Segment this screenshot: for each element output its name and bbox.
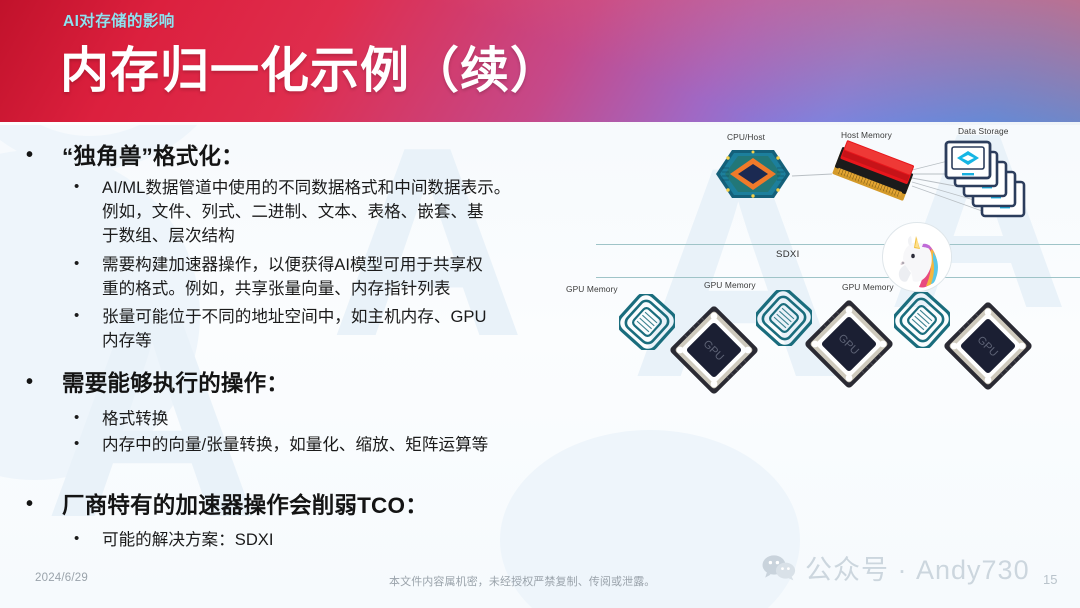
- bullet-l2-possible-solution: • 可能的解决方案：SDXI: [74, 528, 273, 552]
- host-memory-dimm-icon: [829, 140, 915, 206]
- brand-watermark: 公众号 · Andy730: [762, 548, 1030, 587]
- label-gpu-memory-2: GPU Memory: [704, 280, 756, 290]
- bullet-line: 于数组、层次结构: [102, 224, 510, 248]
- bullet-l2-accelerator-ops: • 需要构建加速器操作，以便获得AI模型可用于共享权 重的格式。例如，共享张量向…: [74, 253, 483, 301]
- bullet-l1-text: “独角兽”格式化：: [62, 144, 244, 170]
- bullet-l1-unicorn-format: • “独角兽”格式化：: [26, 144, 244, 170]
- bullet-line: 需要构建加速器操作，以便获得AI模型可用于共享权: [102, 253, 483, 277]
- bullet-l2-tensor-conversion: • 内存中的向量/张量转换，如量化、缩放、矩阵运算等: [74, 433, 488, 457]
- sdxi-line-bottom: [596, 277, 1080, 278]
- gpu-chip-1: GPU: [668, 304, 760, 396]
- cpu-host-icon: [714, 146, 792, 202]
- bullet-l2-text-block: 需要构建加速器操作，以便获得AI模型可用于共享权 重的格式。例如，共享张量向量、…: [102, 253, 483, 301]
- bullet-l2-text-block: 张量可能位于不同的地址空间中，如主机内存、GPU 内存等: [102, 305, 486, 353]
- slide-canvas: A A A A AI对存储的影响 内存归一化示例（续） • “独角兽”格式化： …: [0, 0, 1080, 608]
- label-cpu-host: CPU/Host: [727, 132, 765, 142]
- sdxi-band: SDXI: [596, 236, 1080, 282]
- bullet-marker: •: [74, 305, 102, 327]
- architecture-diagram: CPU/Host: [596, 108, 1080, 508]
- header-kicker: AI对存储的影响: [63, 9, 175, 31]
- bullet-line: 内存等: [102, 329, 486, 353]
- bullet-marker: •: [26, 493, 62, 516]
- bullet-l2-data-formats: • AI/ML数据管道中使用的不同数据格式和中间数据表示。 例如，文件、列式、二…: [74, 176, 510, 249]
- page-number: 15: [1043, 572, 1057, 587]
- brand-watermark-text: 公众号 · Andy730: [805, 548, 1030, 587]
- bullet-marker: •: [74, 433, 102, 455]
- bullet-line: 可能的解决方案：SDXI: [102, 528, 273, 552]
- bullet-line: 张量可能位于不同的地址空间中，如主机内存、GPU: [102, 305, 486, 329]
- bullet-marker: •: [74, 176, 102, 198]
- label-sdxi: SDXI: [776, 249, 800, 260]
- footer-confidentiality-notice: 本文件内容属机密，未经授权严禁复制、传阅或泄露。: [389, 573, 655, 589]
- bullet-line: 格式转换: [102, 407, 168, 431]
- bullet-line: 内存中的向量/张量转换，如量化、缩放、矩阵运算等: [102, 433, 488, 457]
- bullet-marker: •: [74, 407, 102, 429]
- bullet-l2-text-block: 内存中的向量/张量转换，如量化、缩放、矩阵运算等: [102, 433, 488, 457]
- bullet-l1-vendor-specific-tco: • 厂商特有的加速器操作会削弱TCO：: [26, 493, 428, 519]
- footer-date: 2024/6/29: [35, 572, 88, 584]
- bullet-marker: •: [26, 144, 62, 167]
- label-gpu-memory-1: GPU Memory: [566, 284, 618, 294]
- label-host-memory: Host Memory: [841, 130, 892, 140]
- bullet-marker: •: [26, 371, 62, 394]
- bullet-l2-text-block: 可能的解决方案：SDXI: [102, 528, 273, 552]
- slide-header: AI对存储的影响 内存归一化示例（续）: [0, 0, 1080, 122]
- bullet-marker: •: [74, 253, 102, 275]
- gpu-memory-icon-1: [619, 294, 675, 350]
- bullet-line: 例如，文件、列式、二进制、文本、表格、嵌套、基: [102, 200, 510, 224]
- label-gpu-memory-3: GPU Memory: [842, 282, 894, 292]
- bullet-line: AI/ML数据管道中使用的不同数据格式和中间数据表示。: [102, 176, 510, 200]
- bullet-l1-required-operations: • 需要能够执行的操作：: [26, 371, 289, 397]
- bullet-l1-text: 需要能够执行的操作：: [62, 371, 289, 397]
- gpu-chip-3: GPU: [942, 300, 1034, 392]
- bullet-l1-text: 厂商特有的加速器操作会削弱TCO：: [62, 493, 428, 519]
- bullet-l2-text-block: 格式转换: [102, 407, 168, 431]
- page-title: 内存归一化示例（续）: [60, 31, 560, 102]
- bullet-l2-format-conversion: • 格式转换: [74, 407, 168, 431]
- gpu-chip-2: GPU: [803, 298, 895, 390]
- sdxi-line-top: [596, 244, 1080, 245]
- bullet-l2-text-block: AI/ML数据管道中使用的不同数据格式和中间数据表示。 例如，文件、列式、二进制…: [102, 176, 510, 249]
- bullet-marker: •: [74, 528, 102, 550]
- wechat-icon: [762, 554, 796, 581]
- bullet-line: 重的格式。例如，共享张量向量、内存指针列表: [102, 277, 483, 301]
- bullet-l2-address-spaces: • 张量可能位于不同的地址空间中，如主机内存、GPU 内存等: [74, 305, 486, 353]
- data-storage-stack-icon: [942, 134, 1046, 224]
